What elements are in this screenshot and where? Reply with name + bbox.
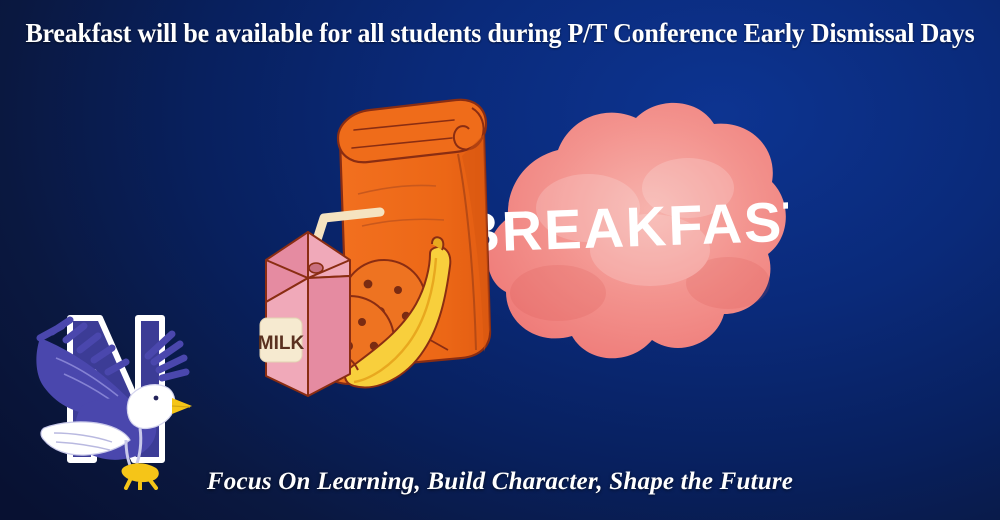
school-motto: Focus On Learning, Build Character, Shap… [0, 468, 1000, 496]
eagle-head [127, 385, 192, 429]
breakfast-illustration: BREAKFAST [258, 78, 788, 403]
school-logo [22, 300, 202, 490]
breakfast-cloud: BREAKFAST [458, 103, 788, 358]
milk-label-text: MILK [258, 333, 304, 354]
breakfast-announcement-banner: Breakfast will be available for all stud… [0, 0, 1000, 520]
straw-hole [309, 263, 323, 273]
eagle-eye [154, 396, 159, 401]
cloud-label: BREAKFAST [458, 189, 788, 265]
page-title: Breakfast will be available for all stud… [20, 18, 980, 49]
eagle-logo-icon [22, 300, 202, 490]
milk-carton: MILK [258, 232, 350, 396]
